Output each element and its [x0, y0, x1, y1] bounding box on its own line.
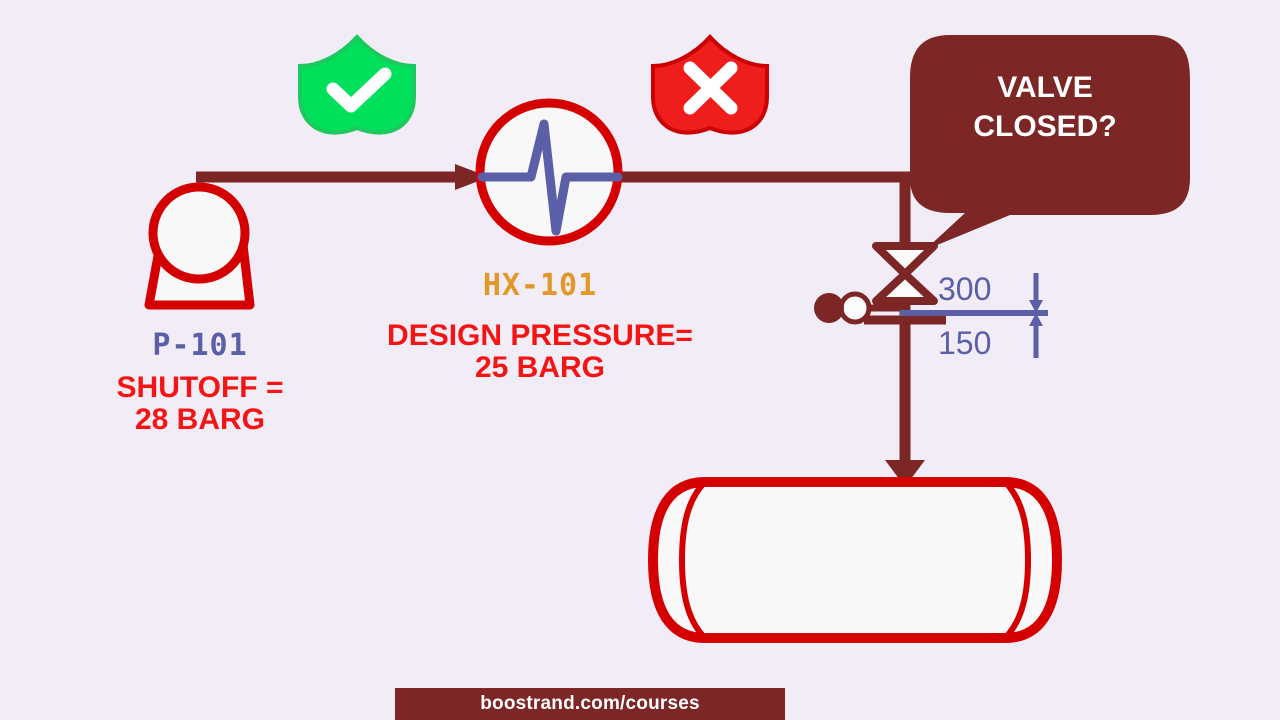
pump-casing-icon — [153, 187, 245, 279]
footer-url-label: boostrand.com/courses — [480, 693, 700, 715]
spec-break-downstream-rating: 150 — [938, 326, 1018, 361]
vessel-symbol[interactable] — [653, 482, 1057, 638]
pump-note-line1: SHUTOFF = — [117, 371, 284, 404]
callout-text: VALVECLOSED? — [930, 68, 1160, 146]
exchanger-tag-label: HX-101 — [428, 270, 652, 302]
exchanger-note-line2: 25 BARG — [475, 351, 605, 384]
vessel-shell-icon — [653, 482, 1057, 638]
callout-line2: CLOSED? — [973, 110, 1116, 143]
exchanger-note-line1: DESIGN PRESSURE= — [387, 319, 693, 352]
pump-note-line2: 28 BARG — [135, 403, 265, 436]
callout-line1: VALVE — [997, 71, 1093, 104]
pump-symbol[interactable] — [149, 187, 250, 305]
spec-break-upstream-rating: 300 — [938, 272, 1018, 307]
pump-tag-label: P-101 — [88, 330, 312, 362]
valve-position-indicator-icon[interactable] — [814, 293, 844, 323]
footer-banner: boostrand.com/courses — [395, 688, 785, 720]
exchanger-design-pressure-note: DESIGN PRESSURE=25 BARG — [348, 320, 732, 385]
pump-shutoff-note: SHUTOFF =28 BARG — [68, 372, 332, 437]
heat-exchanger-symbol[interactable] — [480, 103, 618, 241]
